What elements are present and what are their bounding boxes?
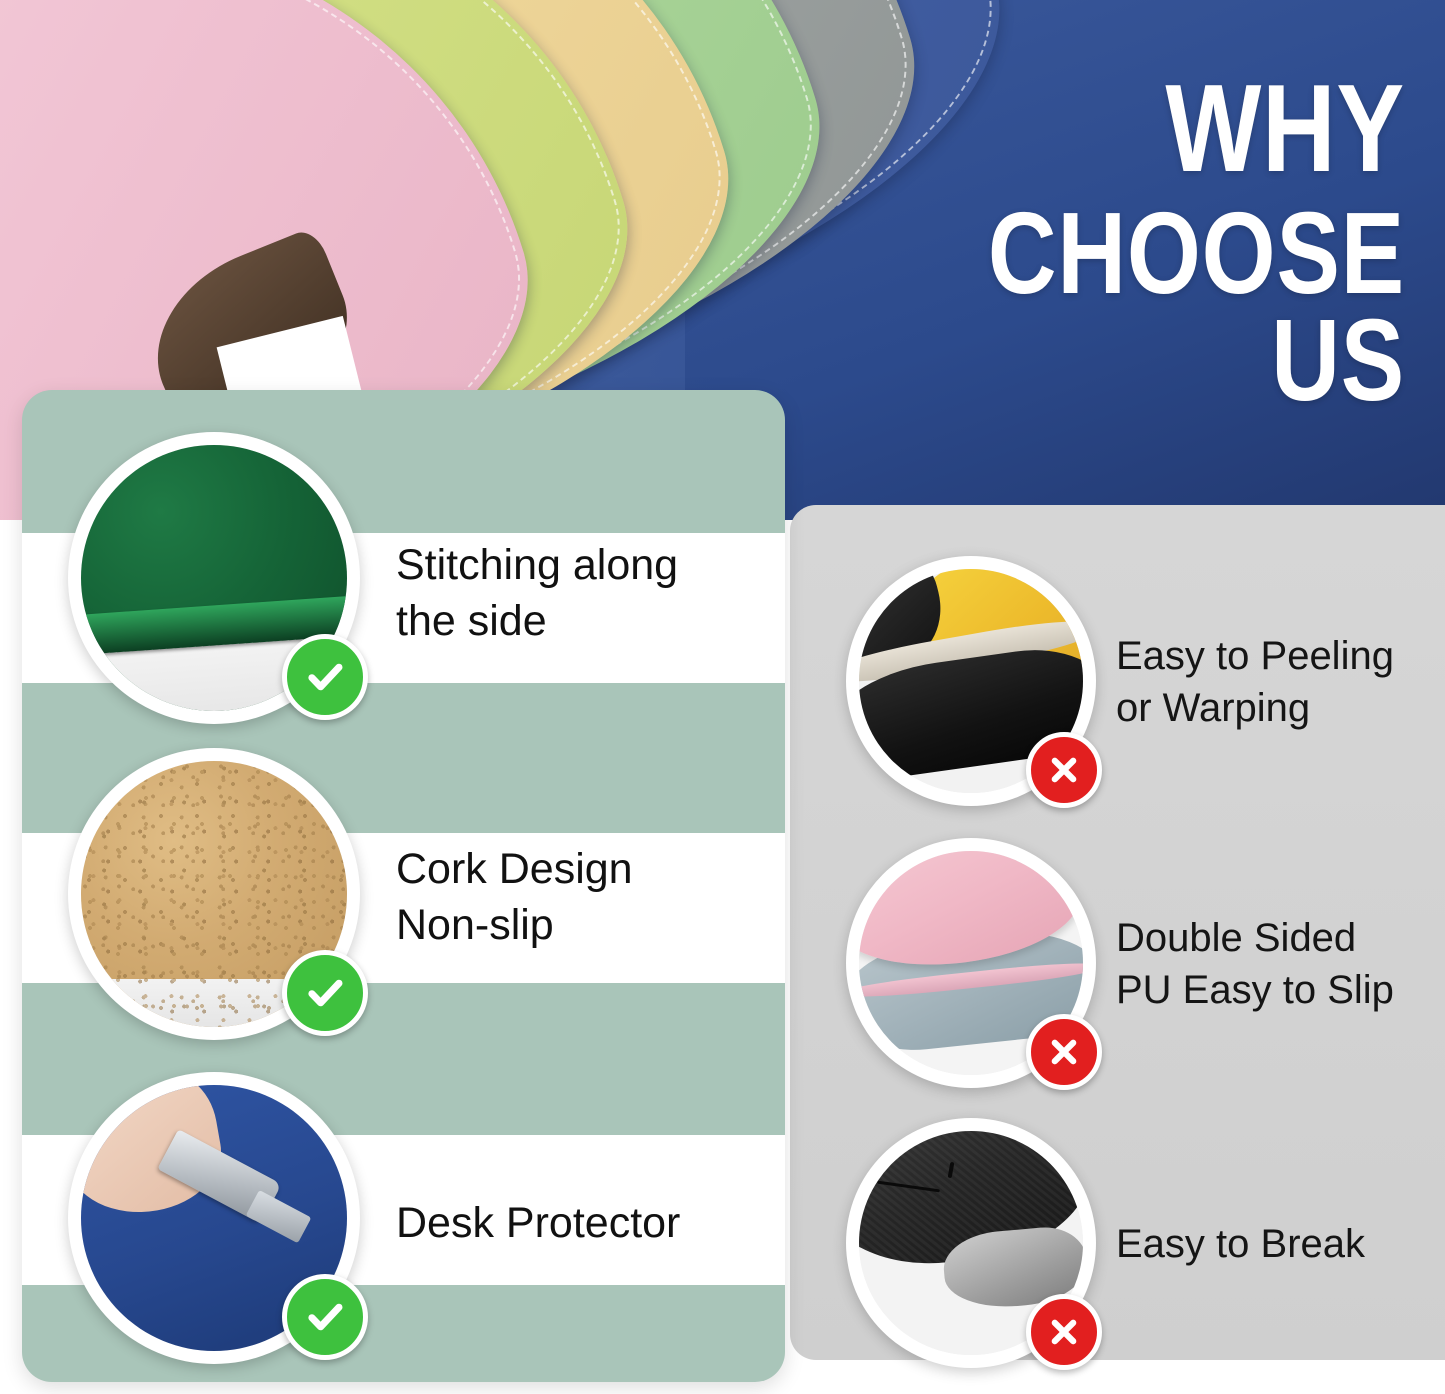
pros-label-1-line2: the side bbox=[396, 597, 547, 645]
cons-label-2-line1: Double Sided bbox=[1116, 916, 1356, 960]
pros-label-3-line1: Desk Protector bbox=[396, 1199, 680, 1247]
cross-icon bbox=[1026, 1014, 1102, 1090]
pros-label-1-line1: Stitching along bbox=[396, 541, 678, 589]
cons-photo-2 bbox=[846, 838, 1096, 1088]
pros-label-2-line1: Cork Design bbox=[396, 845, 633, 893]
pros-photo-1 bbox=[68, 432, 360, 724]
check-icon bbox=[282, 950, 368, 1036]
cons-label-3-line1: Easy to Break bbox=[1116, 1222, 1365, 1266]
cons-label-2-line2: PU Easy to Slip bbox=[1116, 968, 1394, 1012]
cons-label-2: Double Sided PU Easy to Slip bbox=[1116, 912, 1445, 1016]
infographic-canvas: WHY CHOOSE US Stitching along the side bbox=[0, 0, 1445, 1394]
headline-line-2: CHOOSE US bbox=[839, 200, 1405, 413]
cons-label-1: Easy to Peeling or Warping bbox=[1116, 630, 1445, 734]
cons-label-1-line2: or Warping bbox=[1116, 686, 1310, 730]
page-title: WHY CHOOSE US bbox=[839, 72, 1405, 414]
pros-label-1: Stitching along the side bbox=[396, 538, 756, 650]
pros-label-2: Cork Design Non-slip bbox=[396, 842, 756, 954]
check-icon bbox=[282, 634, 368, 720]
cons-photo-1 bbox=[846, 556, 1096, 806]
pros-label-2-line2: Non-slip bbox=[396, 901, 554, 949]
cross-icon bbox=[1026, 1294, 1102, 1370]
cross-icon bbox=[1026, 732, 1102, 808]
pros-photo-2 bbox=[68, 748, 360, 1040]
cons-photo-3 bbox=[846, 1118, 1096, 1368]
pros-photo-3 bbox=[68, 1072, 360, 1364]
headline-line-1: WHY bbox=[1165, 60, 1405, 198]
check-icon bbox=[282, 1274, 368, 1360]
knife-tip bbox=[245, 1190, 310, 1243]
pros-label-3: Desk Protector bbox=[396, 1196, 776, 1252]
cons-label-3: Easy to Break bbox=[1116, 1218, 1445, 1270]
cons-label-1-line1: Easy to Peeling bbox=[1116, 634, 1394, 678]
